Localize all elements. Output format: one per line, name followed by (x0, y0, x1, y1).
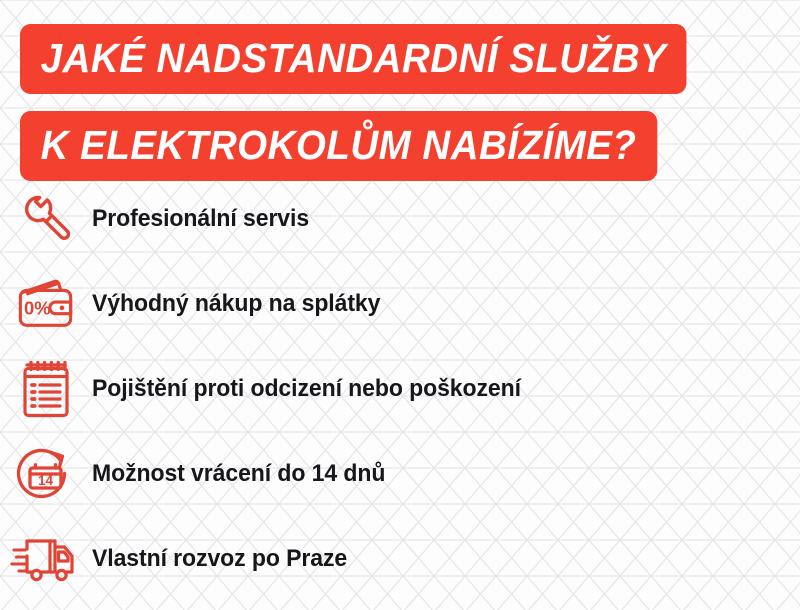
list-item-label: Pojištění proti odcizení nebo poškození (92, 375, 521, 403)
notepad-list-icon (0, 353, 92, 425)
return-icon-text: 14 (38, 473, 54, 488)
list-item-label: Profesionální servis (92, 205, 309, 233)
wallet-icon-text: 0% (24, 297, 51, 318)
wrench-icon (0, 183, 92, 255)
list-item: 0% Výhodný nákup na splátky (0, 261, 800, 346)
list-item: Profesionální servis (0, 176, 800, 261)
delivery-truck-icon (0, 523, 92, 595)
headline-line-2: K ELEKTROKOLŮM NABÍZÍME? (20, 111, 657, 181)
headline-block: JAKÉ NADSTANDARDNÍ SLUŽBY K ELEKTROKOLŮM… (20, 24, 729, 181)
list-item-label: Možnost vrácení do 14 dnů (92, 460, 385, 488)
return-14-days-icon: 14 (0, 438, 92, 510)
list-item: Pojištění proti odcizení nebo poškození (0, 346, 800, 431)
feature-list: Profesionální servis 0% Výhodný nákup na… (0, 176, 800, 601)
headline-line-1: JAKÉ NADSTANDARDNÍ SLUŽBY (20, 24, 687, 94)
list-item: 14 Možnost vrácení do 14 dnů (0, 431, 800, 516)
list-item-label: Vlastní rozvoz po Praze (92, 545, 347, 573)
list-item: Vlastní rozvoz po Praze (0, 516, 800, 601)
list-item-label: Výhodný nákup na splátky (92, 290, 380, 318)
promo-poster: JAKÉ NADSTANDARDNÍ SLUŽBY K ELEKTROKOLŮM… (0, 0, 800, 610)
wallet-zero-percent-icon: 0% (0, 268, 92, 340)
